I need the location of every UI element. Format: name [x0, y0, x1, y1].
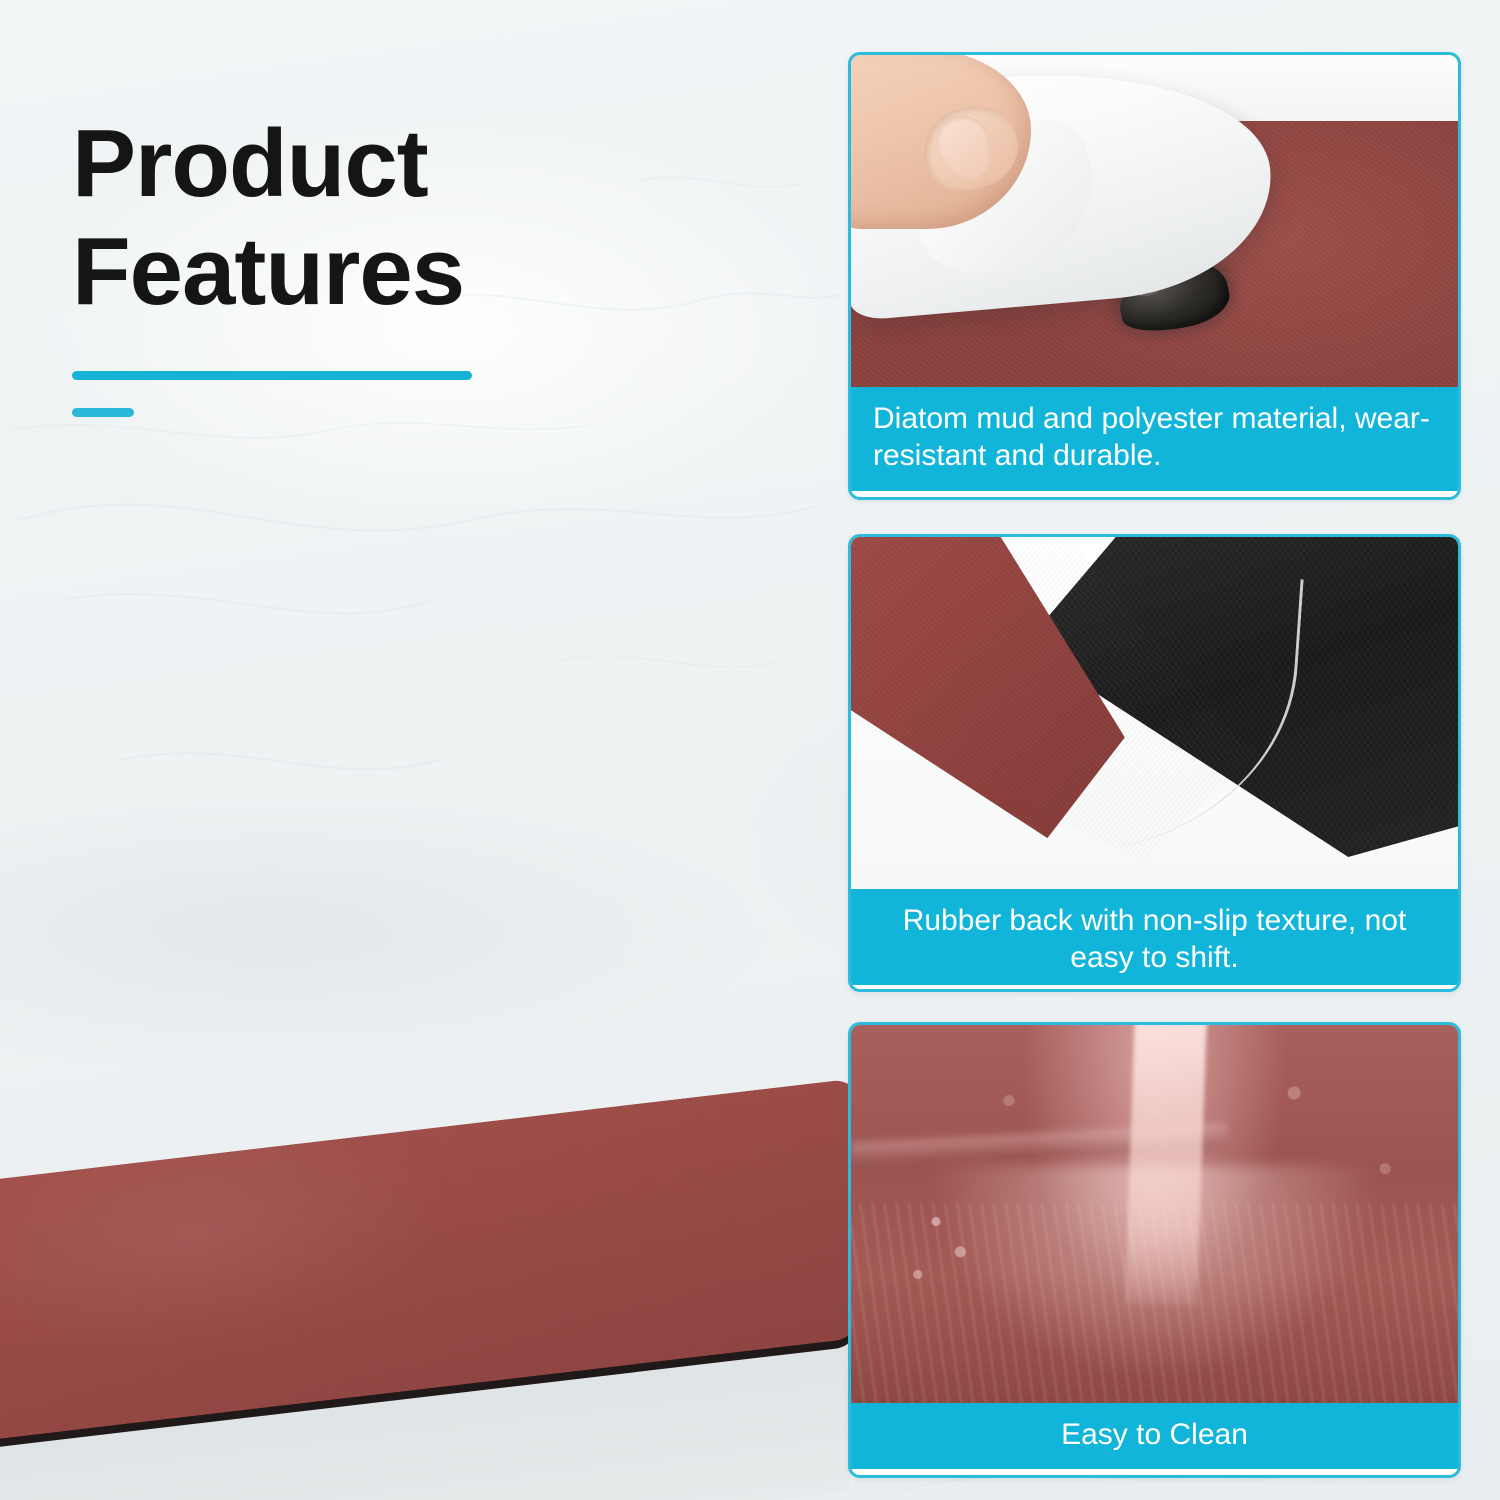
mat-top-surface	[0, 1078, 850, 1442]
title-accent-bar-long	[72, 371, 472, 380]
mat-surface-texture	[0, 1078, 850, 1442]
feature-photo-easy-clean	[851, 1025, 1458, 1403]
page-title-line-2: Features	[72, 218, 712, 326]
water-streaks	[851, 1203, 1458, 1403]
feature-caption-easy-clean: Easy to Clean	[851, 1403, 1458, 1469]
title-accent-bar-short	[72, 408, 134, 417]
page-title: Product Features	[72, 110, 712, 325]
product-feature-graphic: Product Features	[0, 0, 1500, 1500]
feature-card-material: Diatom mud and polyester material, wear-…	[848, 52, 1461, 500]
feature-card-easy-clean: Easy to Clean	[848, 1022, 1461, 1478]
feature-caption-non-slip: Rubber back with non-slip texture, not e…	[851, 889, 1458, 985]
feature-caption-material: Diatom mud and polyester material, wear-…	[851, 387, 1458, 491]
page-title-line-1: Product	[72, 110, 712, 218]
feature-photo-non-slip	[851, 537, 1458, 889]
feature-photo-material	[851, 55, 1458, 387]
hero-lifestyle-photo	[0, 800, 850, 1500]
feature-card-non-slip: Rubber back with non-slip texture, not e…	[848, 534, 1461, 992]
